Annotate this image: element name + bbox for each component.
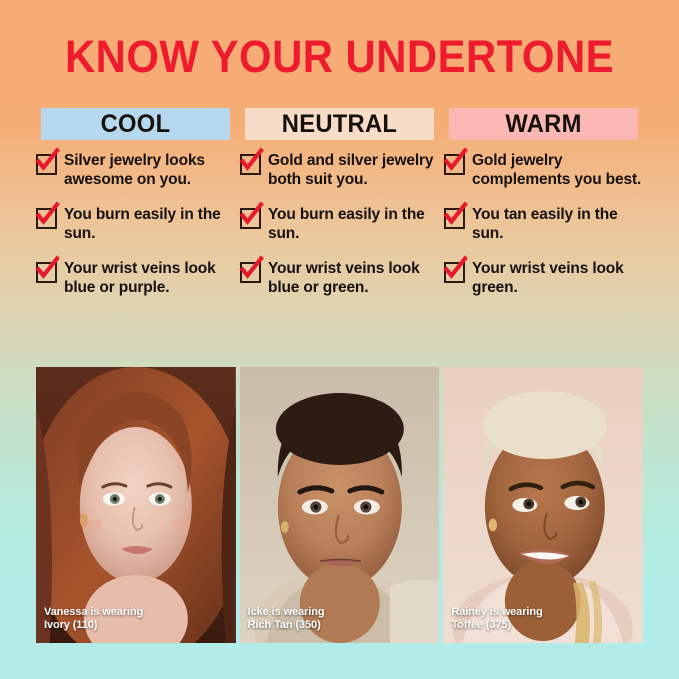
column-header-neutral: NEUTRAL (245, 108, 434, 140)
checkbox-icon (240, 208, 261, 229)
infographic-root: KNOW YOUR UNDERTONE COOL NEUTRAL WARM Si… (0, 0, 679, 679)
checklist-item: Your wrist veins look green. (444, 260, 643, 297)
checklist-item: Your wrist veins look blue or green. (240, 260, 439, 297)
column-header-warm-label: WARM (505, 110, 581, 139)
page-title: KNOW YOUR UNDERTONE (24, 33, 655, 81)
checklist-item-label: Gold and silver jewelry both suit you. (268, 152, 439, 189)
checkbox-icon (444, 208, 465, 229)
checklist-item: Gold and silver jewelry both suit you. (240, 152, 439, 189)
check-icon (35, 257, 60, 282)
check-icon (35, 149, 60, 174)
checklist-item: You burn easily in the sun. (36, 206, 235, 243)
photo-caption: Rainey is wearing Toffee (375) (451, 606, 542, 631)
check-icon (239, 257, 264, 282)
column-header-cool: COOL (41, 108, 230, 140)
checklist-item: You burn easily in the sun. (240, 206, 439, 243)
checklist-item-label: You burn easily in the sun. (268, 206, 439, 243)
column-header-warm: WARM (449, 108, 638, 140)
model-portrait-vanessa (36, 367, 236, 643)
check-icon (443, 257, 468, 282)
checkbox-icon (240, 262, 261, 283)
model-portrait-rainey (443, 367, 643, 643)
checklist-item: Your wrist veins look blue or purple. (36, 260, 235, 297)
checklist-item-label: Gold jewelry complements you best. (472, 152, 643, 189)
checklist-item: Silver jewelry looks awesome on you. (36, 152, 235, 189)
column-header-cool-label: COOL (101, 110, 171, 139)
checkbox-icon (36, 154, 57, 175)
model-photo-neutral: Icke is wearing Rich Tan (350) (240, 367, 440, 643)
model-portrait-icke (240, 367, 440, 643)
checklist-item-label: You burn easily in the sun. (64, 206, 235, 243)
column-header-neutral-label: NEUTRAL (282, 110, 397, 139)
model-photo-cool: Vanessa is wearing Ivory (110) (36, 367, 236, 643)
checklist-item-label: Your wrist veins look blue or purple. (64, 260, 235, 297)
model-photo-row: Vanessa is wearing Ivory (110) (36, 367, 643, 643)
checkbox-icon (444, 262, 465, 283)
check-icon (239, 203, 264, 228)
photo-caption: Vanessa is wearing Ivory (110) (44, 606, 143, 631)
model-photo-warm: Rainey is wearing Toffee (375) (443, 367, 643, 643)
checklist-item-label: Silver jewelry looks awesome on you. (64, 152, 235, 189)
checklist-item-label: Your wrist veins look blue or green. (268, 260, 439, 297)
checkbox-icon (444, 154, 465, 175)
check-icon (239, 149, 264, 174)
undertone-checklist-row: Silver jewelry looks awesome on you. You… (36, 152, 643, 352)
checklist-item: Gold jewelry complements you best. (444, 152, 643, 189)
checklist-item: You tan easily in the sun. (444, 206, 643, 243)
check-icon (443, 203, 468, 228)
checklist-column-cool: Silver jewelry looks awesome on you. You… (36, 152, 235, 352)
checklist-item-label: You tan easily in the sun. (472, 206, 643, 243)
checklist-item-label: Your wrist veins look green. (472, 260, 643, 297)
undertone-header-row: COOL NEUTRAL WARM (36, 108, 643, 140)
checklist-column-warm: Gold jewelry complements you best. You t… (444, 152, 643, 352)
checklist-column-neutral: Gold and silver jewelry both suit you. Y… (240, 152, 439, 352)
check-icon (35, 203, 60, 228)
checkbox-icon (36, 262, 57, 283)
check-icon (443, 149, 468, 174)
checkbox-icon (240, 154, 261, 175)
photo-caption: Icke is wearing Rich Tan (350) (248, 606, 325, 631)
checkbox-icon (36, 208, 57, 229)
